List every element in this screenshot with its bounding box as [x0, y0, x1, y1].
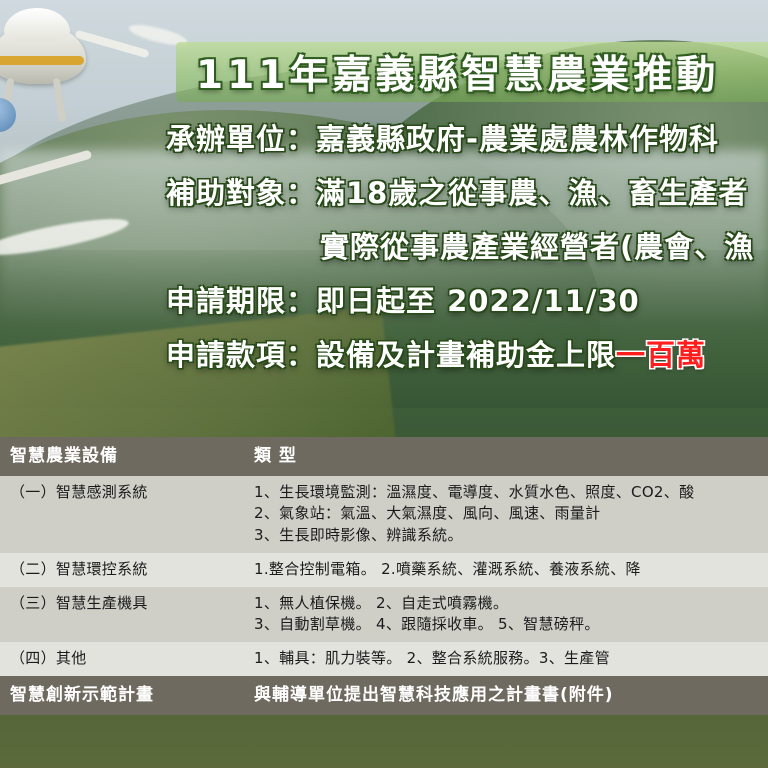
table-row: （四）其他 1、輔具：肌力裝等。 2、整合系統服務。3、生產管 — [0, 642, 768, 676]
drone-canopy — [4, 8, 70, 42]
poster-root: 111年嘉義縣智慧農業推動 承辦單位：嘉義縣政府-農業處農林作物科 補助對象：滿… — [0, 0, 768, 768]
amount-label: 申請款項：設備及計畫補助金上限 — [166, 338, 616, 372]
footer-category: 智慧創新示範計畫 — [0, 676, 244, 715]
row-items: 1、無人植保機。 2、自走式噴霧機。 3、自動割草機。 4、跟隨採收車。 5、智… — [244, 587, 768, 643]
row-category: （四）其他 — [0, 642, 244, 676]
page-title: 111年嘉義縣智慧農業推動 — [196, 44, 768, 100]
amount-highlight: 一百萬 — [616, 338, 706, 372]
row-category: （三）智慧生產機具 — [0, 587, 244, 643]
row-item: 2、氣象站：氣溫、大氣濕度、風向、風速、雨量計 — [254, 503, 768, 525]
target-line: 補助對象：滿18歲之從事農、漁、畜生產者 — [0, 170, 768, 212]
table-row: （一）智慧感測系統 1、生長環境監測：溫濕度、電導度、水質水色、照度、CO2、酸… — [0, 476, 768, 553]
row-item: 1、生長環境監測：溫濕度、電導度、水質水色、照度、CO2、酸 — [254, 482, 768, 504]
row-category: （一）智慧感測系統 — [0, 476, 244, 553]
table-footer-row: 智慧創新示範計畫 與輔導單位提出智慧科技應用之計畫書(附件) — [0, 676, 768, 715]
row-item: 1.整合控制電箱。 2.噴藥系統、灌溉系統、養液系統、降 — [254, 559, 768, 581]
table-header-row: 智慧農業設備 類 型 — [0, 437, 768, 476]
row-items: 1.整合控制電箱。 2.噴藥系統、灌溉系統、養液系統、降 — [244, 553, 768, 587]
amount-line: 申請款項：設備及計畫補助金上限一百萬 — [0, 332, 768, 374]
equipment-table-wrap: 智慧農業設備 類 型 （一）智慧感測系統 1、生長環境監測：溫濕度、電導度、水質… — [0, 437, 768, 715]
row-items: 1、生長環境監測：溫濕度、電導度、水質水色、照度、CO2、酸 2、氣象站：氣溫、… — [244, 476, 768, 553]
table-header-type: 類 型 — [244, 437, 768, 476]
table-row: （二）智慧環控系統 1.整合控制電箱。 2.噴藥系統、灌溉系統、養液系統、降 — [0, 553, 768, 587]
table-row: （三）智慧生產機具 1、無人植保機。 2、自走式噴霧機。 3、自動割草機。 4、… — [0, 587, 768, 643]
row-item: 1、無人植保機。 2、自走式噴霧機。 — [254, 593, 768, 615]
deadline-line: 申請期限：即日起至 2022/11/30 — [0, 278, 768, 320]
row-item: 3、生長即時影像、辨識系統。 — [254, 525, 768, 547]
row-items: 1、輔具：肌力裝等。 2、整合系統服務。3、生產管 — [244, 642, 768, 676]
row-item: 1、輔具：肌力裝等。 2、整合系統服務。3、生產管 — [254, 648, 768, 670]
equipment-table: 智慧農業設備 類 型 （一）智慧感測系統 1、生長環境監測：溫濕度、電導度、水質… — [0, 437, 768, 715]
row-category: （二）智慧環控系統 — [0, 553, 244, 587]
row-item: 3、自動割草機。 4、跟隨採收車。 5、智慧磅秤。 — [254, 614, 768, 636]
table-header-category: 智慧農業設備 — [0, 437, 244, 476]
organizer-line: 承辦單位：嘉義縣政府-農業處農林作物科 — [0, 116, 768, 158]
target-continued-line: 實際從事農產業經營者(農會、漁 — [0, 224, 768, 266]
footer-content: 與輔導單位提出智慧科技應用之計畫書(附件) — [244, 676, 768, 715]
drone-stripe — [0, 56, 84, 65]
poster-body: 承辦單位：嘉義縣政府-農業處農林作物科 補助對象：滿18歲之從事農、漁、畜生產者… — [0, 116, 768, 374]
